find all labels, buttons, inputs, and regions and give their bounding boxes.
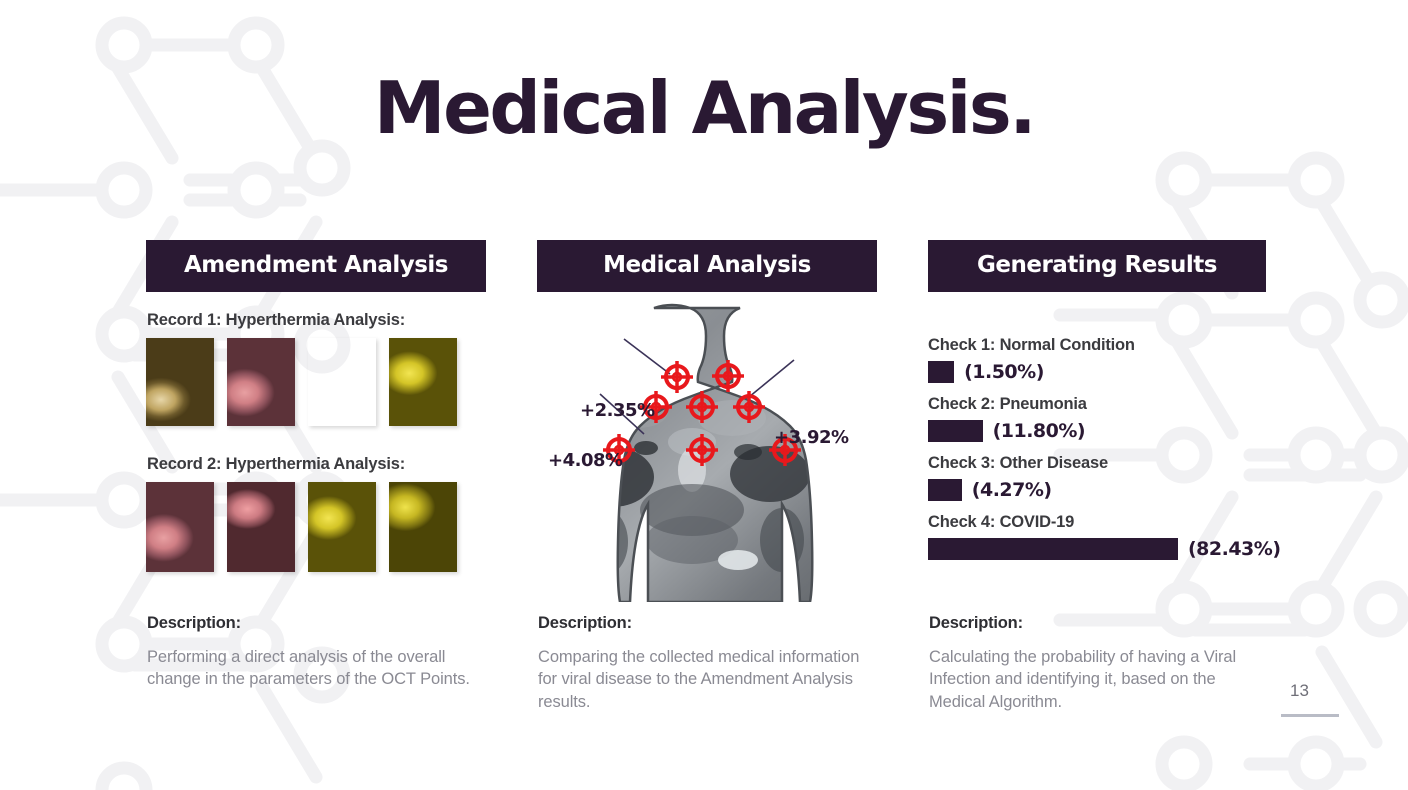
result-item: Check 1: Normal Condition (1.50%) [928, 336, 1273, 383]
thermal-tile-tan [146, 338, 214, 426]
column-header-amendment-analysis: Amendment Analysis [146, 240, 486, 292]
result-value: (11.80%) [993, 420, 1086, 442]
callout-value-1: +2.35% [580, 400, 655, 421]
result-value: (82.43%) [1188, 538, 1281, 560]
description-amendment-analysis: Description: Performing a direct analysi… [147, 614, 477, 691]
bar-row: (82.43%) [928, 538, 1273, 560]
thermal-tile-yellow-1 [308, 482, 376, 572]
record-2-label: Record 2: Hyperthermia Analysis: [147, 455, 405, 474]
callout-value-2: +4.08% [548, 450, 623, 471]
description-generating-results: Description: Calculating the probability… [929, 614, 1259, 713]
page-title: Medical Analysis. [0, 72, 1408, 144]
result-bar [928, 361, 954, 383]
thermal-tile-rose-1 [146, 482, 214, 572]
result-value: (1.50%) [964, 361, 1044, 383]
callout-value-3: +3.92% [774, 427, 849, 448]
thermal-tile-rose [227, 338, 295, 426]
result-bar [928, 420, 983, 442]
results-bar-chart: Check 1: Normal Condition (1.50%) Check … [928, 336, 1273, 560]
result-bar [928, 479, 962, 501]
result-item: Check 4: COVID-19 (82.43%) [928, 513, 1273, 560]
description-body: Calculating the probability of having a … [929, 646, 1259, 713]
thermal-tile-yellow [389, 338, 457, 426]
description-medical-analysis: Description: Comparing the collected med… [538, 614, 868, 713]
page-number-rule [1281, 714, 1339, 717]
column-header-generating-results: Generating Results [928, 240, 1266, 292]
thermal-body-scan: +2.35% +4.08% +3.92% [542, 302, 872, 602]
bar-row: (11.80%) [928, 420, 1273, 442]
result-item: Check 3: Other Disease (4.27%) [928, 454, 1273, 501]
description-body: Comparing the collected medical informat… [538, 646, 868, 713]
result-bar [928, 538, 1178, 560]
result-item: Check 2: Pneumonia (11.80%) [928, 395, 1273, 442]
record-2-tile-row [146, 482, 457, 572]
column-header-medical-analysis: Medical Analysis [537, 240, 877, 292]
check-label: Check 3: Other Disease [928, 454, 1273, 473]
thermal-tile-rose-2 [227, 482, 295, 572]
record-1-label: Record 1: Hyperthermia Analysis: [147, 311, 405, 330]
description-title: Description: [538, 614, 868, 633]
thermal-tile-yellow-2 [389, 482, 457, 572]
description-title: Description: [147, 614, 477, 633]
bar-row: (4.27%) [928, 479, 1273, 501]
check-label: Check 2: Pneumonia [928, 395, 1273, 414]
thermal-tile-green [308, 338, 376, 426]
column-medical-analysis: Medical Analysis [537, 240, 877, 292]
column-amendment-analysis: Amendment Analysis Record 1: Hyperthermi… [146, 240, 486, 292]
description-title: Description: [929, 614, 1259, 633]
column-generating-results: Generating Results Check 1: Normal Condi… [928, 240, 1273, 572]
bar-row: (1.50%) [928, 361, 1273, 383]
result-value: (4.27%) [972, 479, 1052, 501]
check-label: Check 4: COVID-19 [928, 513, 1273, 532]
record-1-tile-row [146, 338, 457, 426]
description-body: Performing a direct analysis of the over… [147, 646, 477, 691]
page-number: 13 [1290, 681, 1309, 701]
check-label: Check 1: Normal Condition [928, 336, 1273, 355]
